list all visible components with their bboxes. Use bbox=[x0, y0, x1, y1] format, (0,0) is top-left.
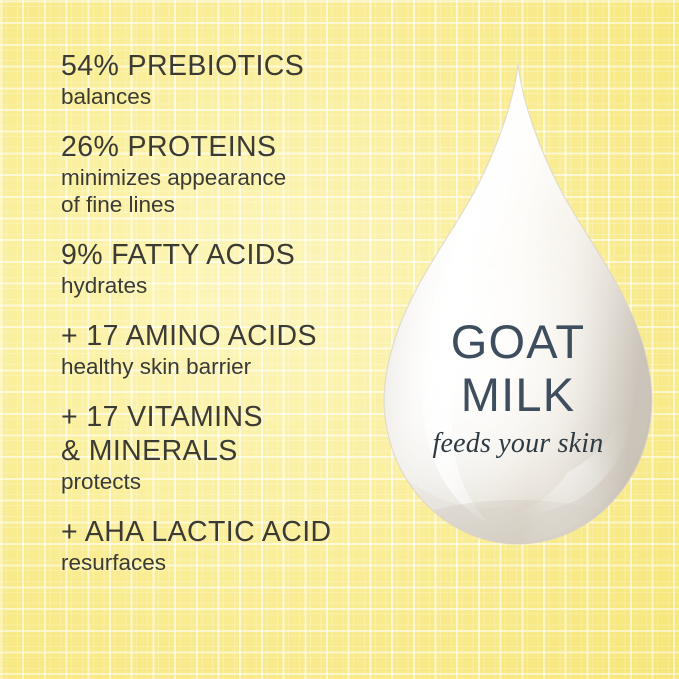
ingredient-benefit: protects bbox=[61, 469, 381, 496]
ingredient-title: 54% PREBIOTICS bbox=[61, 49, 381, 83]
ingredient-benefit: healthy skin barrier bbox=[61, 354, 381, 381]
ingredient-list: 54% PREBIOTICS balances 26% PROTEINS min… bbox=[61, 49, 381, 577]
ingredient-item: + AHA LACTIC ACID resurfaces bbox=[61, 515, 381, 577]
ingredient-item: + 17 VITAMINS & MINERALS protects bbox=[61, 400, 381, 496]
ingredient-item: 9% FATTY ACIDS hydrates bbox=[61, 238, 381, 300]
ingredient-item: 54% PREBIOTICS balances bbox=[61, 49, 381, 111]
ingredient-benefit: balances bbox=[61, 84, 381, 111]
ingredient-title: + 17 AMINO ACIDS bbox=[61, 319, 381, 353]
ingredient-benefit: minimizes appearance of fine lines bbox=[61, 165, 381, 219]
product-ingredient-infographic: 54% PREBIOTICS balances 26% PROTEINS min… bbox=[0, 0, 679, 679]
ingredient-title: 9% FATTY ACIDS bbox=[61, 238, 381, 272]
ingredient-title: + AHA LACTIC ACID bbox=[61, 515, 381, 549]
ingredient-benefit: resurfaces bbox=[61, 550, 381, 577]
milk-droplet-icon bbox=[372, 58, 664, 550]
ingredient-title: 26% PROTEINS bbox=[61, 130, 381, 164]
ingredient-item: + 17 AMINO ACIDS healthy skin barrier bbox=[61, 319, 381, 381]
ingredient-title: + 17 VITAMINS & MINERALS bbox=[61, 400, 381, 468]
ingredient-benefit: hydrates bbox=[61, 273, 381, 300]
ingredient-item: 26% PROTEINS minimizes appearance of fin… bbox=[61, 130, 381, 219]
